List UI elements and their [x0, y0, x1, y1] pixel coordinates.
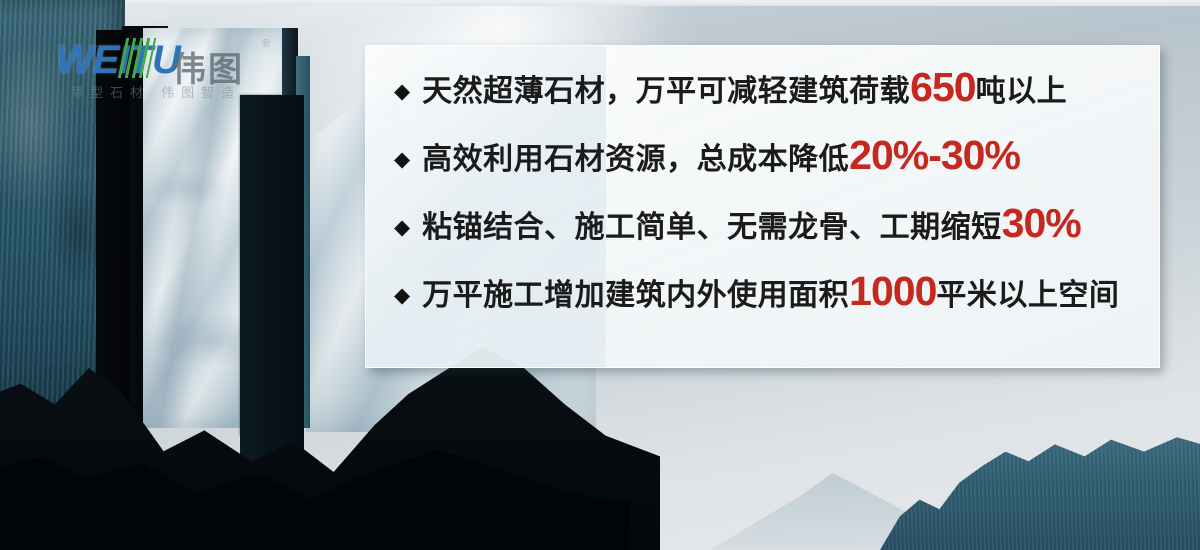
feature-text-after: 吨以上: [976, 66, 1068, 110]
feature-text-before: 万平施工增加建筑内外使用面积: [422, 270, 849, 314]
feature-row: ◆ 万平施工增加建筑内外使用面积 1000 平米以上空间: [366, 268, 1159, 336]
diamond-bullet-icon: ◆: [394, 217, 410, 238]
promo-banner: WEITU 伟图 ® 薄型石材 伟图智造 ◆ 天然超薄石材，万平可减轻建筑荷载 …: [0, 0, 1200, 550]
logo-tagline: 薄型石材 伟图智造: [70, 82, 241, 101]
brand-logo[interactable]: WEITU 伟图 ® 薄型石材 伟图智造: [56, 36, 266, 102]
feature-text-before: 天然超薄石材，万平可减轻建筑荷载: [422, 66, 910, 110]
feature-highlight-value: 1000: [849, 268, 936, 315]
feature-row: ◆ 高效利用石材资源，总成本降低 20%-30%: [366, 132, 1159, 200]
logo-mark: WEITU 伟图 ®: [56, 36, 266, 80]
registered-trademark-icon: ®: [262, 38, 270, 50]
diamond-bullet-icon: ◆: [394, 285, 410, 306]
feature-highlight-value: 30%: [1002, 200, 1081, 247]
feature-text-before: 高效利用石材资源，总成本降低: [422, 134, 849, 178]
feature-list: ◆ 天然超薄石材，万平可减轻建筑荷载 650 吨以上 ◆ 高效利用石材资源，总成…: [366, 64, 1159, 336]
feature-highlight-value: 650: [910, 64, 975, 111]
feature-row: ◆ 天然超薄石材，万平可减轻建筑荷载 650 吨以上: [366, 64, 1159, 132]
feature-text-before: 粘锚结合、施工简单、无需龙骨、工期缩短: [422, 202, 1002, 246]
diamond-bullet-icon: ◆: [394, 81, 410, 102]
diamond-bullet-icon: ◆: [394, 149, 410, 170]
feature-highlight-value: 20%-30%: [849, 132, 1020, 179]
feature-row: ◆ 粘锚结合、施工简单、无需龙骨、工期缩短 30%: [366, 200, 1159, 268]
feature-panel: ◆ 天然超薄石材，万平可减轻建筑荷载 650 吨以上 ◆ 高效利用石材资源，总成…: [365, 45, 1160, 368]
feature-text-after: 平米以上空间: [936, 270, 1119, 314]
